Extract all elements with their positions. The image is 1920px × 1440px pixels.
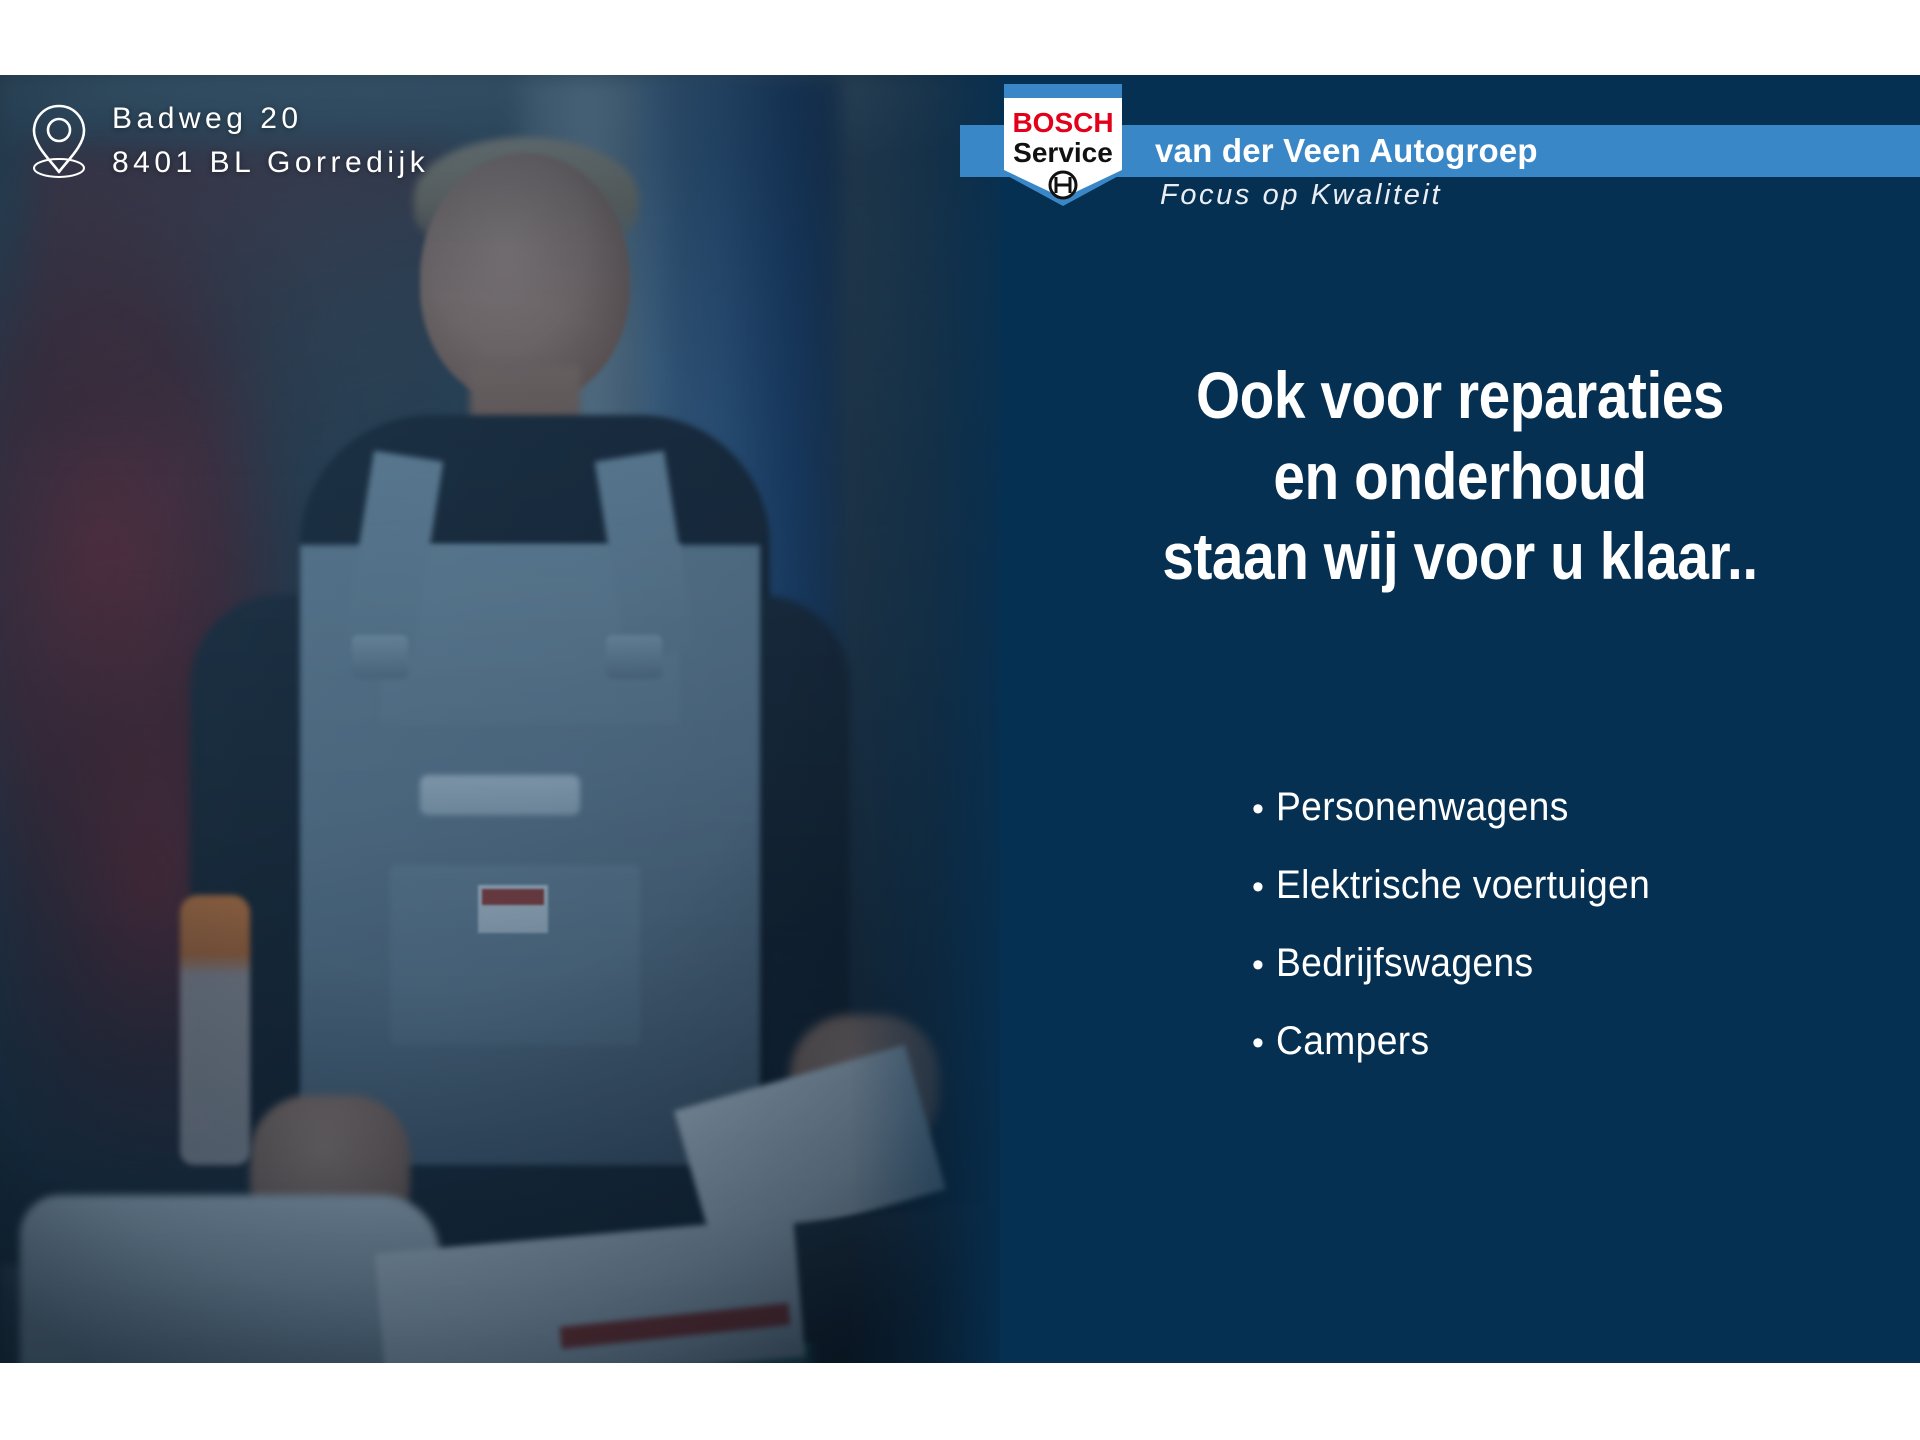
advertisement-frame: Badweg 20 8401 BL Gorredijk BOSCH Servic… xyxy=(0,75,1920,1363)
service-label: Personenwagens xyxy=(1276,785,1569,830)
list-item: • Personenwagens xyxy=(1000,785,1920,863)
location-pin-icon xyxy=(28,102,90,180)
address-lines: Badweg 20 8401 BL Gorredijk xyxy=(112,100,429,183)
brand-tagline: Focus op Kwaliteit xyxy=(1160,179,1442,212)
list-item: • Campers xyxy=(1000,1019,1920,1097)
service-label: Elektrische voertuigen xyxy=(1276,863,1650,908)
bullet-icon: • xyxy=(1252,948,1276,982)
address-block: Badweg 20 8401 BL Gorredijk xyxy=(28,100,429,183)
service-label: Campers xyxy=(1276,1019,1430,1064)
brand-header: BOSCH Service van der Veen Autogroep Foc… xyxy=(1000,75,1920,235)
headline-line-3: staan wij voor u klaar.. xyxy=(1064,516,1855,597)
bosch-service-logo: BOSCH Service xyxy=(1000,82,1126,208)
bullet-icon: • xyxy=(1252,870,1276,904)
headline-line-2: en onderhoud xyxy=(1064,436,1855,517)
address-line-street: Badweg 20 xyxy=(112,100,429,138)
service-wordmark: Service xyxy=(1013,137,1113,168)
bullet-icon: • xyxy=(1252,792,1276,826)
headline: Ook voor reparaties en onderhoud staan w… xyxy=(1064,355,1855,597)
bosch-wordmark: BOSCH xyxy=(1012,107,1113,138)
list-item: • Bedrijfswagens xyxy=(1000,941,1920,1019)
bullet-icon: • xyxy=(1252,1026,1276,1060)
photo-edge-fade xyxy=(850,75,1000,1363)
list-item: • Elektrische voertuigen xyxy=(1000,863,1920,941)
service-label: Bedrijfswagens xyxy=(1276,941,1533,986)
workshop-photo: Badweg 20 8401 BL Gorredijk xyxy=(0,75,1000,1363)
company-name: van der Veen Autogroep xyxy=(1155,125,1538,177)
service-list: • Personenwagens • Elektrische voertuige… xyxy=(1000,785,1920,1097)
content-panel: BOSCH Service van der Veen Autogroep Foc… xyxy=(1000,75,1920,1363)
address-line-city: 8401 BL Gorredijk xyxy=(112,144,429,182)
headline-line-1: Ook voor reparaties xyxy=(1064,355,1855,436)
